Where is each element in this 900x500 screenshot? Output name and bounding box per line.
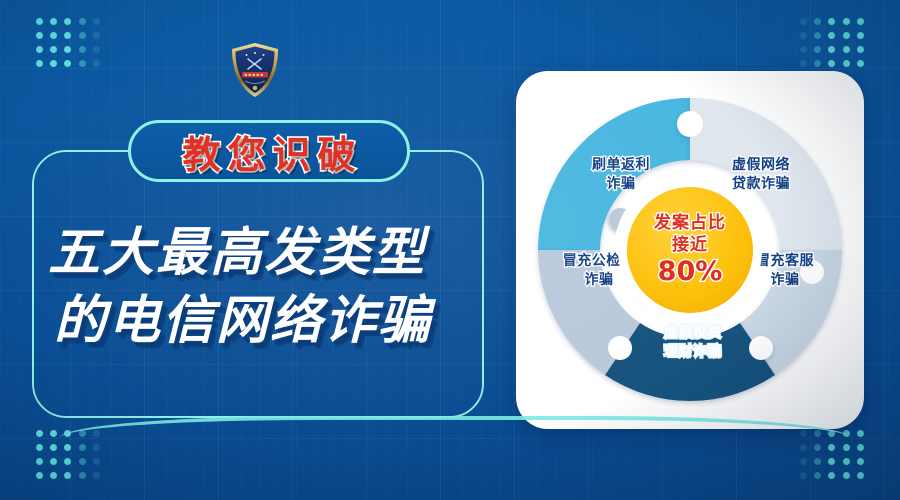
headline-line-2: 的电信网络诈骗: [48, 288, 478, 356]
dot-grid-top-right: [796, 14, 868, 70]
hub-label-line-1: 发案占比: [654, 213, 726, 234]
page-title: 五大最高发类型 的电信网络诈骗: [48, 220, 478, 355]
hub-label-line-2: 接近: [672, 235, 708, 256]
chart-card: 刷单返利 诈骗 虚假网络 贷款诈骗 冒充客服 诈骗 虚假投资 理财诈骗 冒充公检…: [516, 71, 864, 429]
badge-label: 教您识破: [175, 124, 362, 179]
teach-you-to-spot-badge: 教您识破: [128, 120, 410, 182]
poster-canvas: 教您识破 五大最高发类型 的电信网络诈骗: [0, 0, 900, 500]
chart-center-hub: 发案占比 接近 80%: [627, 187, 753, 313]
puzzle-donut-chart: 刷单返利 诈骗 虚假网络 贷款诈骗 冒充客服 诈骗 虚假投资 理财诈骗 冒充公检…: [532, 92, 848, 408]
bottom-accent-curve: [60, 416, 850, 460]
hub-value: 80%: [658, 257, 723, 287]
headline-line-1: 五大最高发类型: [48, 220, 478, 288]
dot-grid-top-left: [32, 14, 104, 70]
shield-emblem-icon: [230, 42, 280, 98]
